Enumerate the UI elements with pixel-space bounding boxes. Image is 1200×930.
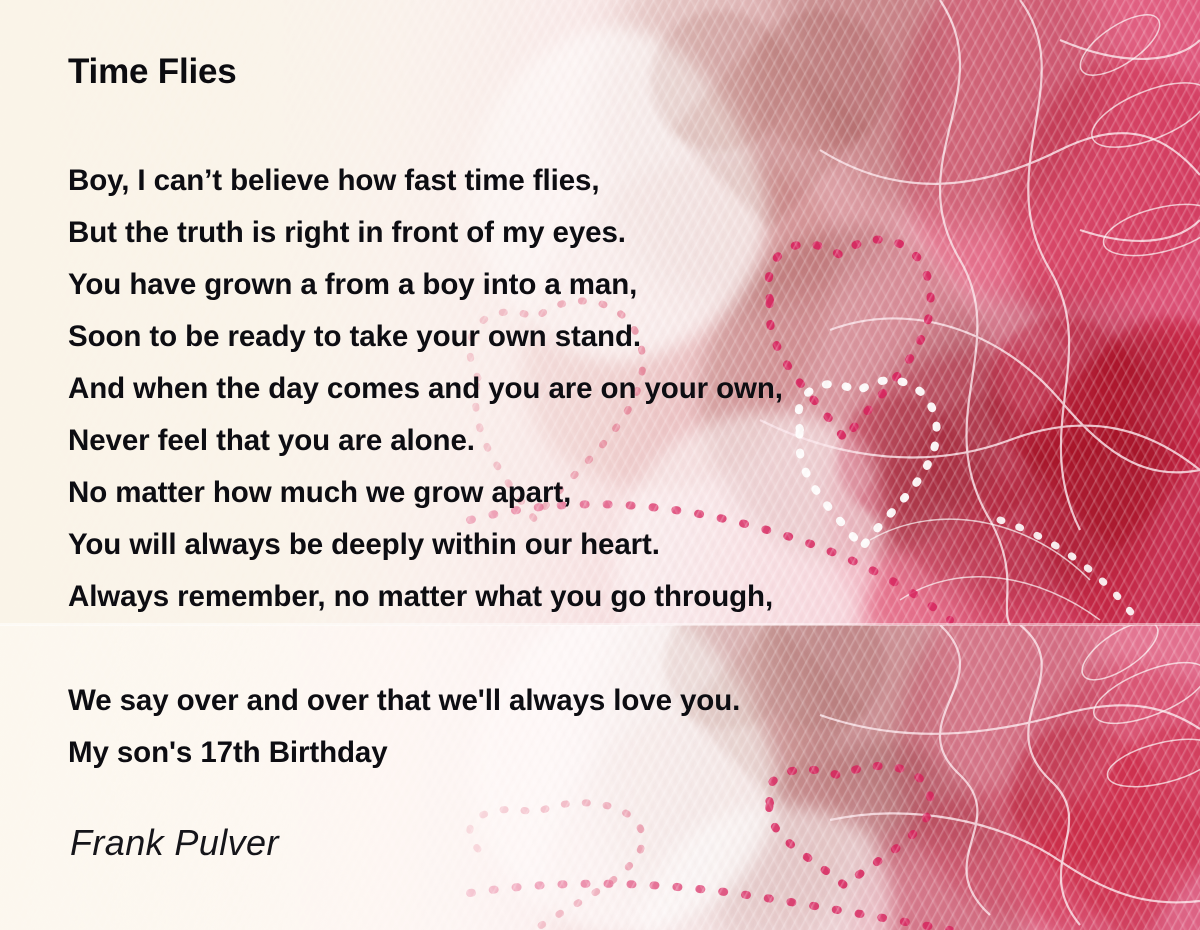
poem-body: Boy, I can’t believe how fast time flies…: [68, 155, 1068, 779]
poem-line-blank: [68, 623, 1068, 675]
poem-line: My son's 17th Birthday: [68, 727, 1068, 779]
author-signature: Frank Pulver: [70, 822, 279, 864]
poem-line: You will always be deeply within our hea…: [68, 519, 1068, 571]
page-title: Time Flies: [68, 52, 237, 92]
poem-content: Time Flies Boy, I can’t believe how fast…: [0, 0, 1200, 930]
poem-line: And when the day comes and you are on yo…: [68, 363, 1068, 415]
poem-line: We say over and over that we'll always l…: [68, 675, 1068, 727]
poem-card: Time Flies Boy, I can’t believe how fast…: [0, 0, 1200, 930]
poem-line: Always remember, no matter what you go t…: [68, 571, 1068, 623]
poem-line: Boy, I can’t believe how fast time flies…: [68, 155, 1068, 207]
poem-line: Never feel that you are alone.: [68, 415, 1068, 467]
poem-line: But the truth is right in front of my ey…: [68, 207, 1068, 259]
poem-line: No matter how much we grow apart,: [68, 467, 1068, 519]
poem-line: Soon to be ready to take your own stand.: [68, 311, 1068, 363]
poem-line: You have grown a from a boy into a man,: [68, 259, 1068, 311]
